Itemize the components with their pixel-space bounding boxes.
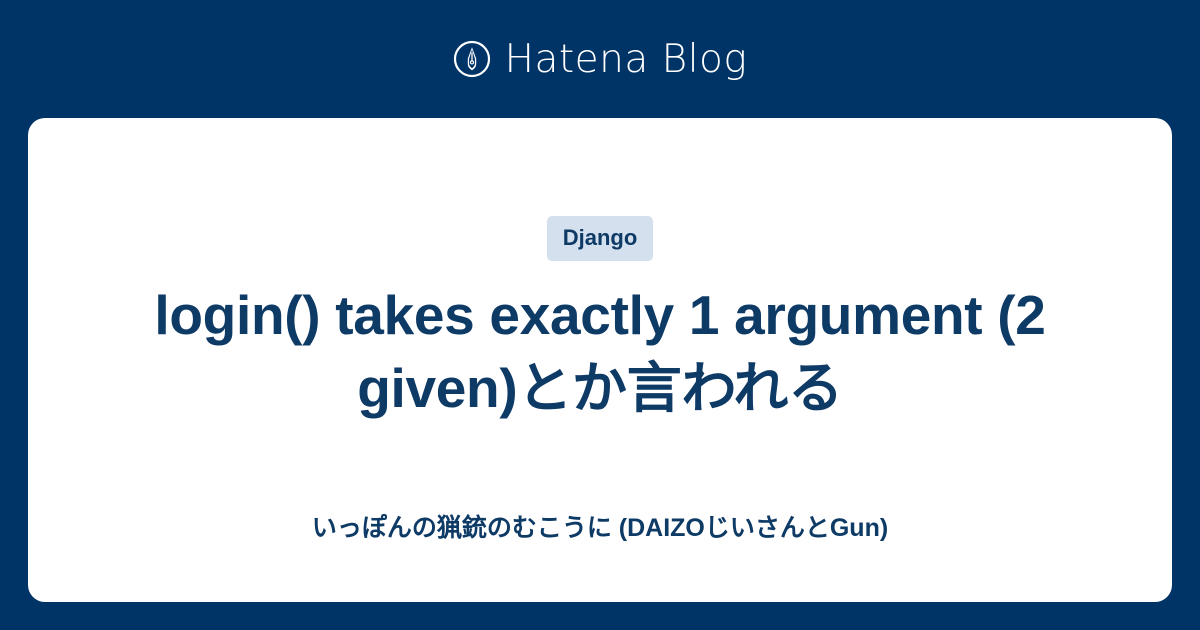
hatena-pen-nib-logo-icon [453,40,491,78]
brand-header: Hatena Blog [0,0,1200,118]
entry-title: login() takes exactly 1 argument (2 give… [28,279,1172,424]
category-tag-django[interactable]: Django [547,216,654,261]
brand-name: Hatena Blog [505,40,748,79]
hatena-blog-og-card: Hatena Blog Django login() takes exactly… [0,0,1200,630]
content-panel: Django login() takes exactly 1 argument … [28,118,1172,602]
blog-name: いっぽんの猟銃のむこうに (DAIZOじいさんとGun) [28,512,1172,545]
category-tag-row: Django [28,216,1172,261]
